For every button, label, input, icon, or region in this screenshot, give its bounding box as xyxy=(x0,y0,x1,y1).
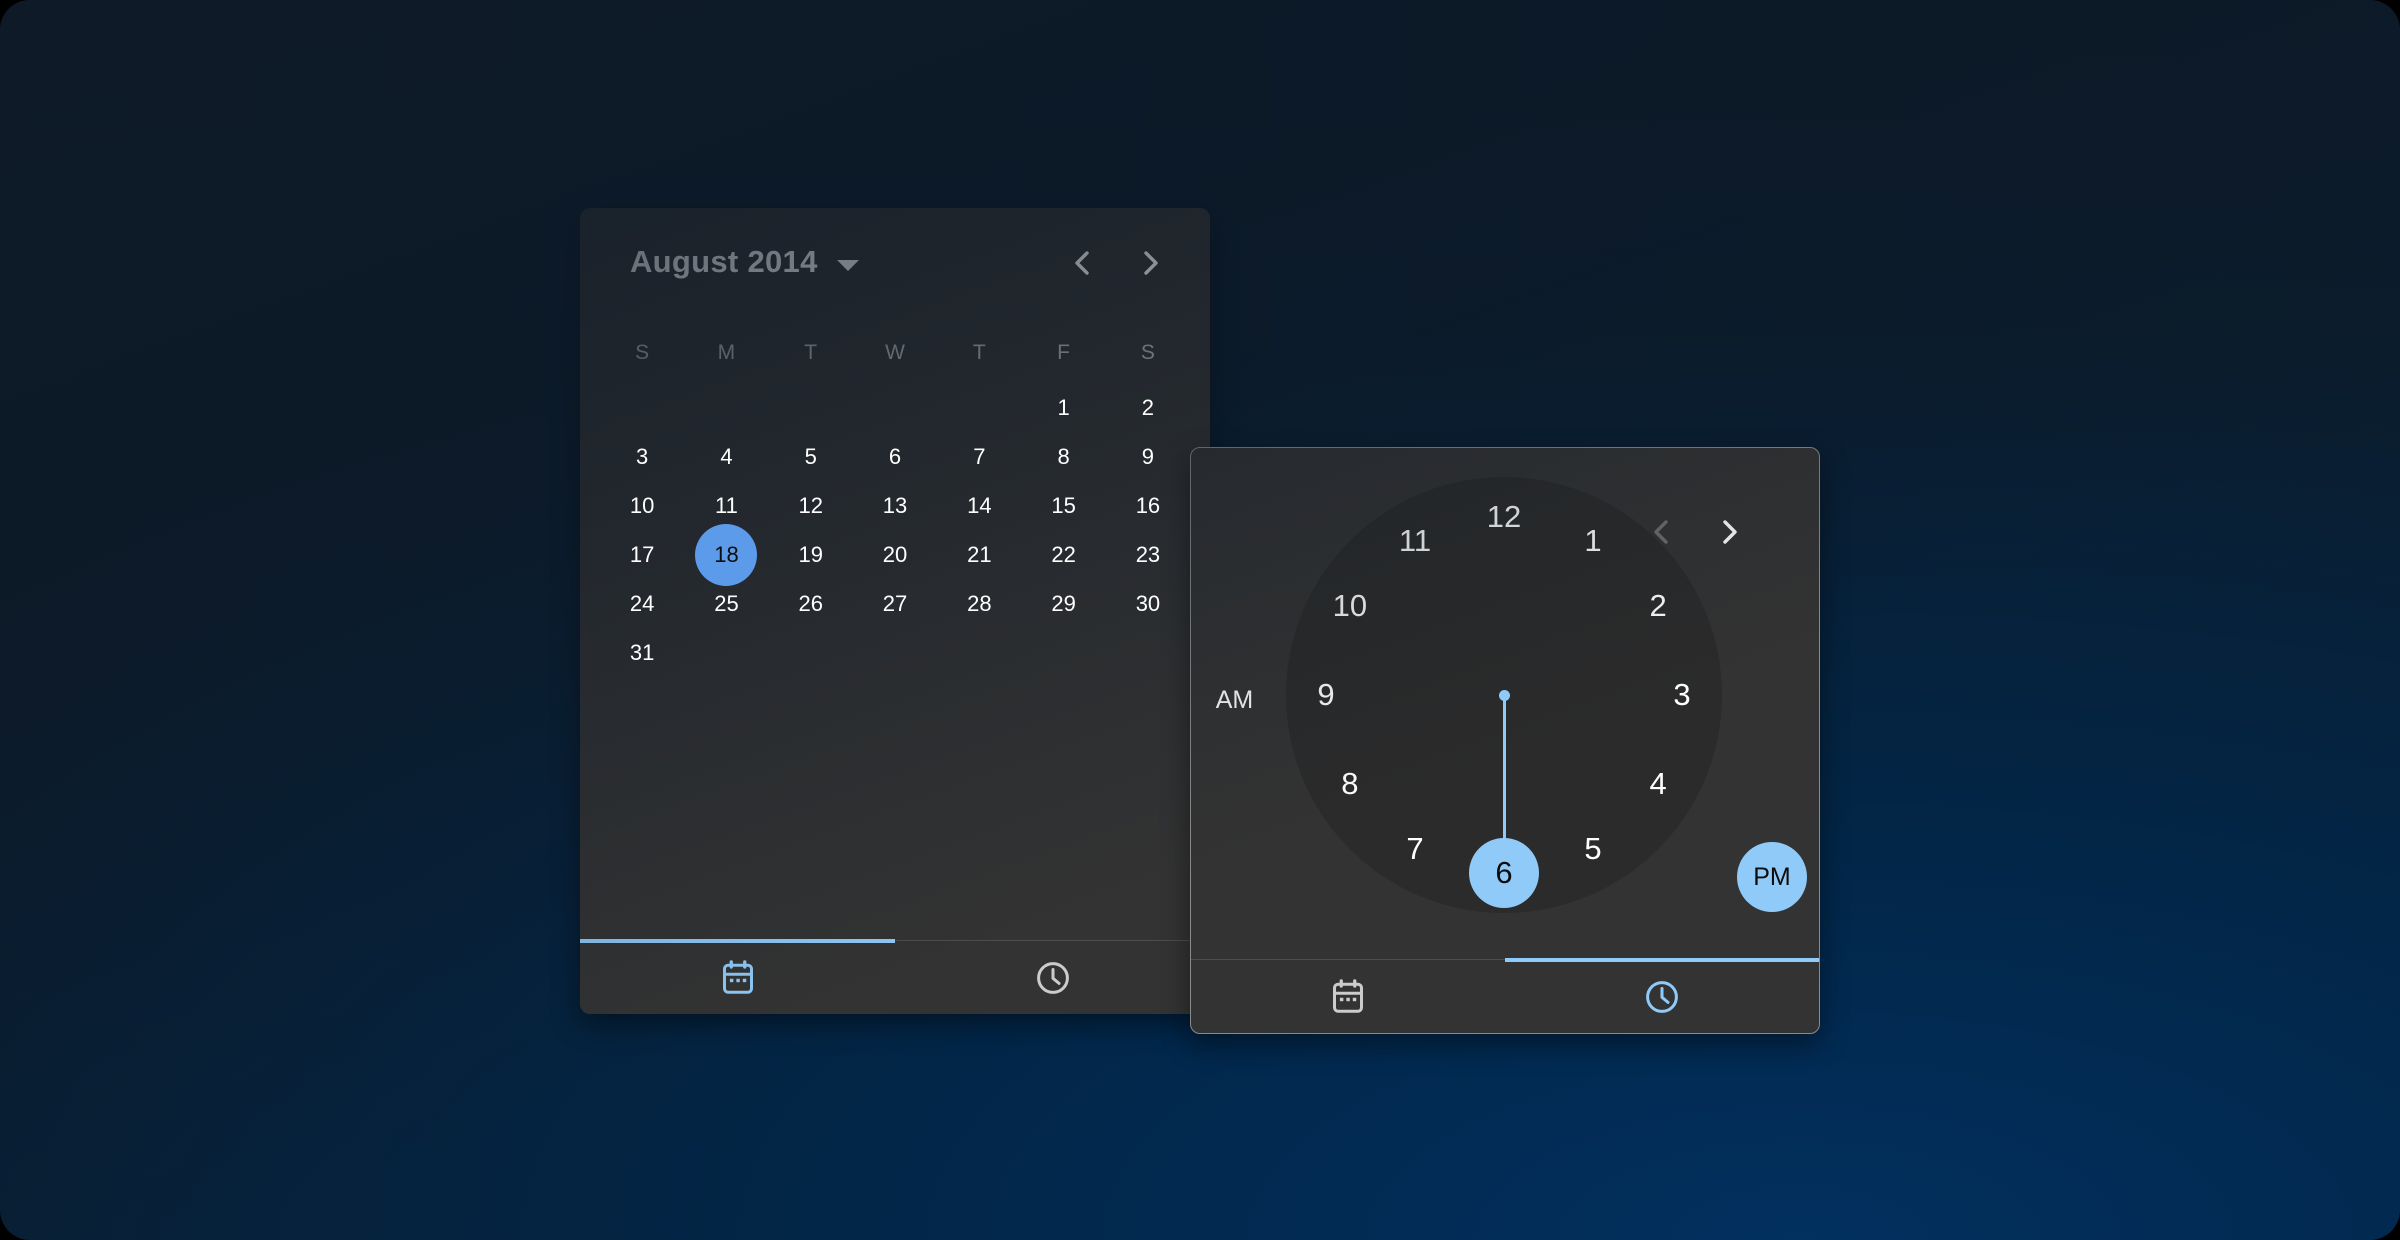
day-cell[interactable]: 10 xyxy=(600,481,684,530)
clock-face[interactable]: 6 121234567891011 xyxy=(1286,477,1722,913)
weekday-label: T xyxy=(769,341,853,365)
content-layer: August 2014 SMTWTFS 12345678910111213141… xyxy=(0,0,2400,1240)
day-cell[interactable]: 25 xyxy=(684,579,768,628)
date-picker-tabbar xyxy=(580,940,1210,1014)
day-cell[interactable]: 22 xyxy=(1021,530,1105,579)
day-label: 22 xyxy=(1051,542,1075,568)
chevron-right-icon xyxy=(1711,514,1747,550)
time-picker-tabbar xyxy=(1191,959,1819,1033)
day-cell[interactable]: 3 xyxy=(600,432,684,481)
date-picker-dialog: August 2014 SMTWTFS 12345678910111213141… xyxy=(580,208,1210,1014)
day-label: 31 xyxy=(630,640,654,666)
day-grid[interactable]: 1234567891011121314151617181920212223242… xyxy=(600,383,1190,677)
next-time-button[interactable] xyxy=(1711,514,1747,550)
day-label: 4 xyxy=(720,444,732,470)
tab-date[interactable] xyxy=(580,941,895,1014)
clock-hour-11[interactable]: 11 xyxy=(1387,518,1443,564)
clock-hour-8[interactable]: 8 xyxy=(1322,761,1378,807)
day-cell[interactable]: 9 xyxy=(1106,432,1190,481)
day-cell[interactable]: 8 xyxy=(1021,432,1105,481)
app-background: August 2014 SMTWTFS 12345678910111213141… xyxy=(0,0,2400,1240)
clock-hour-4[interactable]: 4 xyxy=(1630,761,1686,807)
day-label: 14 xyxy=(967,493,991,519)
day-cell[interactable]: 12 xyxy=(769,481,853,530)
day-cell-empty xyxy=(769,383,853,432)
day-cell[interactable]: 13 xyxy=(853,481,937,530)
clock-icon xyxy=(1643,978,1681,1016)
next-month-button[interactable] xyxy=(1132,245,1168,281)
day-cell[interactable]: 7 xyxy=(937,432,1021,481)
weekday-label: M xyxy=(684,341,768,365)
day-label: 21 xyxy=(967,542,991,568)
day-cell[interactable]: 23 xyxy=(1106,530,1190,579)
clock-hour-3[interactable]: 3 xyxy=(1654,672,1710,718)
day-cell-empty xyxy=(937,383,1021,432)
day-label: 16 xyxy=(1136,493,1160,519)
day-label: 30 xyxy=(1136,591,1160,617)
day-label: 26 xyxy=(799,591,823,617)
day-label: 2 xyxy=(1142,395,1154,421)
day-label: 1 xyxy=(1058,395,1070,421)
clock-hour-7[interactable]: 7 xyxy=(1387,826,1443,872)
day-cell[interactable]: 16 xyxy=(1106,481,1190,530)
pm-button[interactable]: PM xyxy=(1737,842,1807,912)
day-cell[interactable]: 29 xyxy=(1021,579,1105,628)
day-cell[interactable]: 31 xyxy=(600,628,684,677)
clock-hour-9[interactable]: 9 xyxy=(1298,672,1354,718)
weekday-label: F xyxy=(1021,341,1105,365)
day-label: 5 xyxy=(805,444,817,470)
day-label: 8 xyxy=(1058,444,1070,470)
day-label: 9 xyxy=(1142,444,1154,470)
tab-time[interactable] xyxy=(895,941,1210,1014)
day-cell[interactable]: 20 xyxy=(853,530,937,579)
clock-hour-2[interactable]: 2 xyxy=(1630,583,1686,629)
day-cell[interactable]: 1 xyxy=(1021,383,1105,432)
day-cell[interactable]: 2 xyxy=(1106,383,1190,432)
day-cell[interactable]: 28 xyxy=(937,579,1021,628)
am-button[interactable]: AM xyxy=(1192,680,1277,720)
day-cell[interactable]: 17 xyxy=(600,530,684,579)
day-label: 6 xyxy=(889,444,901,470)
calendar-icon xyxy=(720,959,756,997)
date-picker-header: August 2014 xyxy=(580,208,1210,320)
weekday-label: T xyxy=(937,341,1021,365)
day-label: 28 xyxy=(967,591,991,617)
day-cell[interactable]: 26 xyxy=(769,579,853,628)
day-cell[interactable]: 24 xyxy=(600,579,684,628)
tab-time[interactable] xyxy=(1505,960,1819,1033)
day-label: 24 xyxy=(630,591,654,617)
chevron-right-icon xyxy=(1132,245,1168,281)
day-cell-empty xyxy=(684,383,768,432)
day-label: 17 xyxy=(630,542,654,568)
selected-hour-knob[interactable]: 6 xyxy=(1469,838,1539,908)
day-cell[interactable]: 5 xyxy=(769,432,853,481)
day-cell[interactable]: 21 xyxy=(937,530,1021,579)
day-cell[interactable]: 30 xyxy=(1106,579,1190,628)
day-label: 7 xyxy=(973,444,985,470)
calendar-icon xyxy=(1330,978,1366,1016)
day-label: 23 xyxy=(1136,542,1160,568)
clock-hour-10[interactable]: 10 xyxy=(1322,583,1378,629)
day-cell[interactable]: 14 xyxy=(937,481,1021,530)
prev-month-button[interactable] xyxy=(1065,245,1101,281)
day-cell[interactable]: 19 xyxy=(769,530,853,579)
time-picker-dialog: 6 121234567891011 AM PM xyxy=(1190,447,1820,1034)
day-cell-selected[interactable]: 18 xyxy=(684,530,768,579)
weekday-header-row: SMTWTFS xyxy=(600,341,1190,365)
chevron-down-icon[interactable] xyxy=(837,260,859,271)
day-cell-empty xyxy=(853,383,937,432)
day-label: 27 xyxy=(883,591,907,617)
clock-hand-hub xyxy=(1499,690,1510,701)
weekday-label: S xyxy=(1106,341,1190,365)
clock-hour-1[interactable]: 1 xyxy=(1565,518,1621,564)
day-label: 15 xyxy=(1051,493,1075,519)
weekday-label: S xyxy=(600,341,684,365)
clock-icon xyxy=(1034,959,1072,997)
day-cell[interactable]: 27 xyxy=(853,579,937,628)
day-label: 11 xyxy=(715,493,738,519)
day-cell[interactable]: 15 xyxy=(1021,481,1105,530)
day-cell-empty xyxy=(600,383,684,432)
clock-hour-5[interactable]: 5 xyxy=(1565,826,1621,872)
day-label: 25 xyxy=(714,591,738,617)
day-label: 10 xyxy=(630,493,654,519)
chevron-left-icon xyxy=(1065,245,1101,281)
day-label: 3 xyxy=(636,444,648,470)
day-cell[interactable]: 6 xyxy=(853,432,937,481)
clock-hour-12[interactable]: 12 xyxy=(1476,494,1532,540)
weekday-label: W xyxy=(853,341,937,365)
month-year-label[interactable]: August 2014 xyxy=(630,244,818,280)
day-label: 19 xyxy=(799,542,823,568)
day-label: 29 xyxy=(1051,591,1075,617)
day-label: 18 xyxy=(714,542,738,568)
day-label: 20 xyxy=(883,542,907,568)
tab-date[interactable] xyxy=(1191,960,1505,1033)
day-label: 13 xyxy=(883,493,907,519)
day-label: 12 xyxy=(799,493,823,519)
day-cell[interactable]: 4 xyxy=(684,432,768,481)
